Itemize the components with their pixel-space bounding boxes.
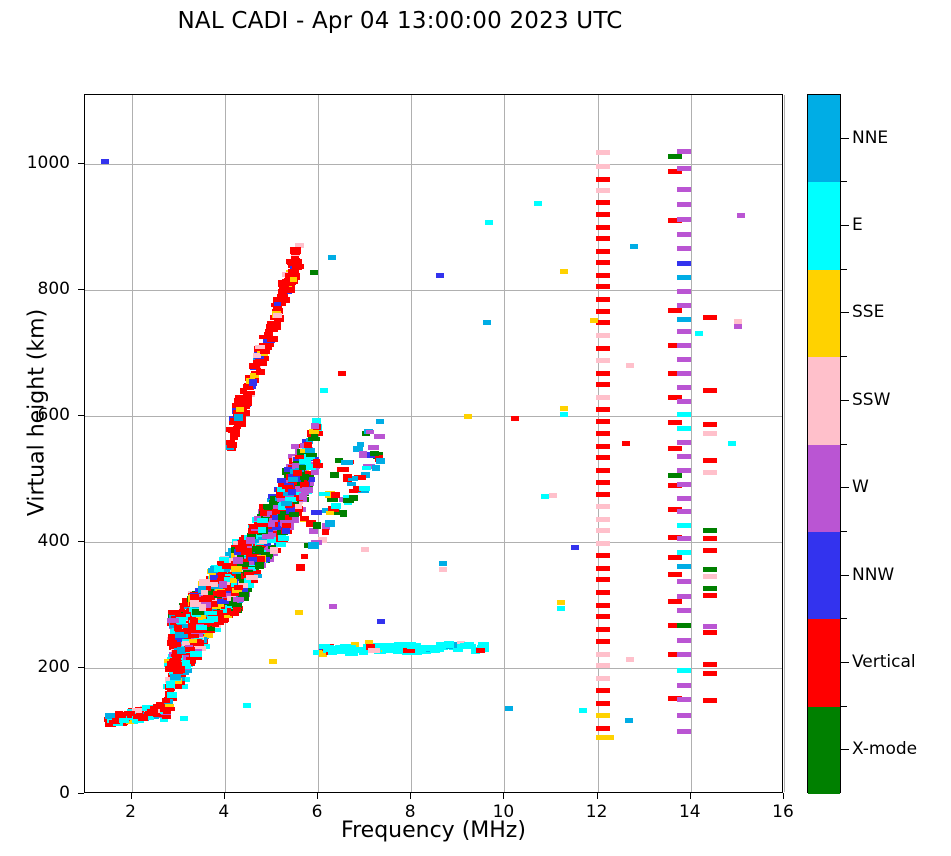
- data-point: [439, 567, 447, 572]
- data-point: [668, 446, 682, 451]
- data-point: [439, 561, 447, 566]
- data-point: [190, 595, 199, 600]
- data-point: [677, 399, 691, 404]
- data-point: [343, 474, 352, 478]
- data-point: [677, 275, 691, 280]
- data-point: [201, 590, 208, 595]
- data-point: [436, 273, 444, 278]
- data-point: [372, 465, 380, 471]
- data-point: [293, 470, 302, 476]
- data-point: [596, 639, 610, 644]
- data-point: [124, 711, 135, 716]
- data-point: [311, 423, 319, 429]
- data-point: [560, 269, 568, 274]
- data-point: [166, 681, 175, 688]
- data-point: [677, 523, 691, 528]
- data-point: [596, 164, 610, 169]
- colorbar-segment-x-mode: [808, 707, 840, 794]
- data-point: [596, 212, 610, 217]
- colorbar-label-vertical: Vertical: [852, 652, 916, 672]
- data-point: [281, 501, 292, 506]
- data-point: [668, 420, 682, 425]
- data-point: [190, 651, 202, 657]
- data-point: [703, 458, 717, 463]
- data-point: [677, 564, 691, 569]
- data-point: [596, 577, 610, 582]
- data-point: [366, 430, 374, 434]
- data-point: [596, 320, 610, 325]
- data-point: [119, 718, 129, 723]
- data-point: [668, 599, 682, 604]
- data-point: [596, 407, 610, 412]
- data-point: [167, 640, 177, 646]
- data-point: [625, 718, 633, 723]
- y-axis-title: Virtual height (km): [25, 283, 50, 543]
- data-point: [285, 497, 295, 501]
- data-point: [176, 667, 185, 673]
- data-point: [703, 431, 717, 436]
- data-point: [236, 545, 247, 552]
- data-point: [677, 683, 691, 688]
- data-point: [596, 273, 610, 278]
- data-point: [341, 460, 353, 465]
- colorbar-boundary-tick: [841, 269, 847, 270]
- data-point: [677, 317, 691, 322]
- data-point: [606, 735, 614, 740]
- data-point: [485, 220, 493, 225]
- colorbar-tick: [841, 138, 849, 139]
- data-point: [596, 382, 610, 387]
- data-point: [677, 246, 691, 251]
- data-point: [596, 541, 610, 546]
- data-point: [264, 504, 272, 510]
- data-point: [219, 581, 227, 588]
- data-point: [668, 572, 682, 577]
- data-point: [288, 477, 298, 482]
- data-point: [230, 611, 239, 616]
- data-point: [260, 511, 267, 516]
- data-point: [226, 427, 237, 432]
- data-point: [626, 657, 634, 662]
- data-point: [243, 703, 251, 708]
- data-point: [273, 313, 282, 318]
- y-tick-label: 0: [10, 783, 70, 803]
- data-point: [677, 187, 691, 192]
- data-point: [596, 701, 610, 706]
- data-point: [596, 188, 610, 193]
- data-point: [677, 550, 691, 555]
- data-point: [677, 357, 691, 362]
- data-point: [349, 645, 356, 651]
- data-point: [234, 585, 243, 590]
- data-point: [596, 177, 610, 182]
- data-point: [188, 634, 199, 638]
- data-point: [227, 442, 237, 448]
- data-point: [534, 201, 542, 206]
- data-point: [304, 442, 312, 448]
- data-point: [306, 453, 317, 457]
- data-point: [343, 498, 354, 503]
- data-point: [326, 511, 334, 515]
- data-point: [233, 557, 243, 564]
- colorbar-segment-nnw: [808, 532, 840, 619]
- data-point: [464, 642, 474, 646]
- data-point: [335, 645, 343, 649]
- data-point: [596, 468, 610, 473]
- data-point: [190, 618, 198, 623]
- colorbar-tick: [841, 749, 849, 750]
- data-point: [596, 395, 610, 400]
- data-point: [677, 668, 691, 673]
- data-point: [313, 463, 323, 468]
- data-point: [596, 480, 610, 485]
- colorbar-tick: [841, 575, 849, 576]
- data-point: [282, 523, 291, 528]
- data-point: [426, 645, 435, 651]
- colorbar-boundary-tick: [841, 706, 847, 707]
- data-point: [728, 441, 736, 446]
- data-point: [377, 619, 385, 624]
- x-tick: [410, 793, 411, 799]
- data-point: [505, 706, 513, 711]
- data-point: [173, 655, 181, 660]
- scatter-data-layer: [85, 95, 782, 792]
- data-point: [234, 414, 243, 421]
- data-point: [703, 662, 717, 667]
- data-point: [596, 200, 610, 205]
- data-point: [677, 329, 691, 334]
- data-point: [324, 646, 331, 652]
- colorbar-tick: [841, 400, 849, 401]
- data-point: [596, 590, 610, 595]
- data-point: [231, 566, 242, 572]
- data-point: [668, 555, 682, 560]
- data-point: [677, 608, 691, 613]
- data-point: [677, 232, 691, 237]
- data-point: [677, 426, 691, 431]
- colorbar-label-ssw: SSW: [852, 390, 890, 410]
- data-point: [703, 698, 717, 703]
- data-point: [305, 448, 315, 453]
- data-point: [376, 419, 384, 424]
- data-point: [205, 611, 217, 615]
- data-point: [596, 726, 610, 731]
- data-point: [703, 470, 717, 475]
- data-point: [389, 645, 401, 651]
- colorbar-label-x-mode: X-mode: [852, 739, 917, 759]
- data-point: [622, 441, 630, 446]
- colorbar-segment-e: [808, 182, 840, 269]
- x-tick: [597, 793, 598, 799]
- data-point: [596, 492, 610, 497]
- y-tick: [78, 667, 84, 668]
- data-point: [407, 642, 416, 649]
- colorbar-segment-ssw: [808, 357, 840, 444]
- data-point: [417, 649, 426, 653]
- data-point: [703, 388, 717, 393]
- colorbar-boundary-tick: [841, 618, 847, 619]
- data-point: [703, 671, 717, 676]
- data-point: [703, 630, 717, 635]
- data-point: [677, 509, 691, 514]
- data-point: [677, 149, 691, 154]
- data-point: [319, 492, 330, 496]
- data-point: [703, 528, 717, 533]
- data-point: [357, 442, 364, 447]
- data-point: [362, 466, 371, 470]
- data-point: [596, 431, 610, 436]
- data-point: [295, 610, 303, 615]
- data-point: [196, 625, 207, 630]
- data-point: [189, 639, 197, 643]
- data-point: [270, 547, 278, 554]
- data-point: [258, 527, 266, 533]
- data-point: [596, 333, 610, 338]
- data-point: [299, 465, 306, 470]
- data-point: [677, 623, 691, 628]
- data-point: [444, 642, 454, 648]
- data-point: [368, 445, 379, 450]
- data-point: [368, 648, 380, 653]
- data-point: [596, 627, 610, 632]
- data-point: [288, 489, 296, 495]
- data-point: [703, 624, 717, 629]
- data-point: [677, 166, 691, 171]
- data-point: [483, 320, 491, 325]
- data-point: [252, 546, 262, 552]
- data-point: [596, 676, 610, 681]
- data-point: [199, 604, 206, 611]
- data-point: [331, 503, 341, 509]
- data-point: [256, 369, 265, 375]
- data-point: [233, 597, 244, 602]
- data-point: [260, 350, 270, 354]
- data-point: [253, 360, 260, 367]
- data-point: [246, 575, 258, 580]
- data-point: [311, 433, 318, 438]
- data-point: [590, 318, 598, 323]
- data-point: [308, 542, 319, 549]
- data-point: [174, 625, 182, 631]
- data-point: [677, 729, 691, 734]
- colorbar-label-sse: SSE: [852, 302, 884, 322]
- y-tick: [78, 541, 84, 542]
- data-point: [596, 225, 610, 230]
- data-point: [255, 345, 265, 349]
- data-point: [596, 553, 610, 558]
- data-point: [276, 542, 286, 547]
- data-point: [203, 595, 214, 599]
- data-point: [370, 451, 379, 456]
- data-point: [596, 444, 610, 449]
- colorbar-boundary-tick: [841, 181, 847, 182]
- data-point: [257, 556, 265, 562]
- data-point: [596, 358, 610, 363]
- data-point: [703, 593, 717, 598]
- colorbar-segment-nne: [808, 95, 840, 182]
- data-point: [325, 520, 335, 527]
- data-point: [246, 537, 255, 544]
- data-point: [677, 412, 691, 417]
- data-point: [596, 346, 610, 351]
- gridline-vertical: [784, 95, 785, 792]
- data-point: [165, 666, 175, 672]
- data-point: [274, 302, 281, 306]
- data-point: [596, 309, 610, 314]
- data-point: [359, 486, 370, 491]
- data-point: [101, 159, 109, 164]
- data-point: [240, 388, 247, 394]
- data-point: [167, 618, 179, 623]
- data-point: [347, 482, 356, 486]
- ionogram-plot-area: [84, 94, 783, 793]
- data-point: [282, 527, 290, 534]
- data-point: [596, 150, 610, 155]
- page-title: NAL CADI - Apr 04 13:00:00 2023 UTC: [0, 8, 800, 34]
- data-point: [571, 545, 579, 550]
- y-tick-label: 200: [10, 657, 70, 677]
- data-point: [359, 451, 367, 458]
- colorbar-tick: [841, 487, 849, 488]
- data-point: [703, 586, 717, 591]
- data-point: [703, 536, 717, 541]
- data-point: [286, 259, 298, 264]
- colorbar-tick: [841, 312, 849, 313]
- data-point: [677, 343, 691, 348]
- data-point: [549, 493, 557, 498]
- data-point: [677, 594, 691, 599]
- data-point: [677, 579, 691, 584]
- data-point: [310, 270, 318, 275]
- data-point: [677, 652, 691, 657]
- y-tick: [78, 415, 84, 416]
- data-point: [677, 638, 691, 643]
- data-point: [203, 619, 214, 623]
- data-point: [311, 469, 319, 475]
- data-point: [255, 562, 264, 569]
- data-point: [596, 249, 610, 254]
- data-point: [596, 284, 610, 289]
- data-point: [677, 454, 691, 459]
- data-point: [476, 648, 485, 653]
- data-point: [596, 236, 610, 241]
- data-point: [289, 512, 299, 517]
- data-point: [290, 277, 297, 282]
- data-point: [560, 412, 568, 417]
- data-point: [217, 590, 226, 597]
- data-point: [299, 493, 307, 500]
- colorbar-tick: [841, 662, 849, 663]
- data-point: [596, 371, 610, 376]
- data-point: [302, 487, 313, 493]
- data-point: [703, 567, 717, 572]
- data-point: [296, 564, 305, 571]
- data-point: [511, 416, 519, 421]
- data-point: [596, 517, 610, 522]
- data-point: [630, 244, 638, 249]
- data-point: [737, 213, 745, 218]
- data-point: [677, 385, 691, 390]
- data-point: [734, 324, 742, 329]
- data-point: [329, 604, 337, 609]
- x-tick: [131, 793, 132, 799]
- colorbar-label-e: E: [852, 215, 863, 235]
- data-point: [677, 468, 691, 473]
- data-point: [170, 674, 181, 680]
- x-tick: [224, 793, 225, 799]
- data-point: [677, 697, 691, 702]
- data-point: [262, 534, 274, 539]
- data-point: [596, 419, 610, 424]
- data-point: [703, 422, 717, 427]
- colorbar-segment-sse: [808, 270, 840, 357]
- data-point: [268, 322, 276, 327]
- data-point: [668, 308, 682, 313]
- data-point: [677, 217, 691, 222]
- data-point: [311, 510, 322, 515]
- data-point: [596, 713, 610, 718]
- data-point: [703, 574, 717, 579]
- colorbar: [807, 94, 841, 793]
- data-point: [557, 600, 565, 605]
- data-point: [677, 536, 691, 541]
- data-point: [196, 640, 204, 646]
- colorbar-tick: [841, 225, 849, 226]
- data-point: [596, 603, 610, 608]
- data-point: [668, 473, 682, 478]
- data-point: [249, 379, 257, 386]
- y-tick: [78, 163, 84, 164]
- data-point: [695, 331, 703, 336]
- colorbar-segment-vertical: [808, 619, 840, 706]
- colorbar-boundary-tick: [841, 356, 847, 357]
- data-point: [596, 614, 610, 619]
- data-point: [162, 698, 170, 703]
- y-tick: [78, 289, 84, 290]
- data-point: [180, 716, 188, 721]
- colorbar-segment-w: [808, 445, 840, 532]
- data-point: [596, 455, 610, 460]
- data-point: [677, 202, 691, 207]
- data-point: [596, 260, 610, 265]
- data-point: [230, 433, 238, 440]
- data-point: [677, 496, 691, 501]
- data-point: [138, 716, 148, 721]
- data-point: [269, 659, 277, 664]
- data-point: [579, 708, 587, 713]
- data-point: [677, 440, 691, 445]
- data-point: [677, 289, 691, 294]
- x-tick: [783, 793, 784, 799]
- data-point: [677, 713, 691, 718]
- x-tick: [503, 793, 504, 799]
- data-point: [236, 407, 244, 412]
- data-point: [330, 472, 339, 478]
- data-point: [668, 154, 682, 159]
- data-point: [331, 492, 340, 498]
- y-tick-label: 1000: [10, 153, 70, 173]
- data-point: [257, 518, 268, 523]
- colorbar-label-w: W: [852, 477, 869, 497]
- data-point: [309, 528, 318, 534]
- data-point: [703, 315, 717, 320]
- data-point: [278, 289, 287, 295]
- data-point: [596, 688, 610, 693]
- data-point: [322, 529, 329, 535]
- data-point: [259, 335, 271, 339]
- data-point: [374, 434, 385, 439]
- data-point: [239, 592, 249, 597]
